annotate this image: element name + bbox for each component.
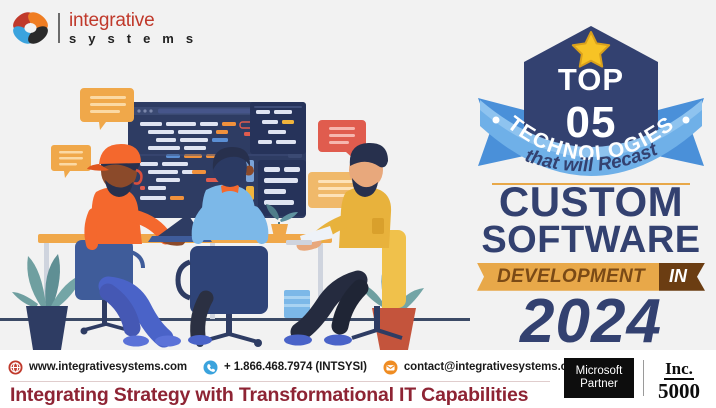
promo-panel: TOP 05 TECHNOLOGIES that will R [466,14,716,344]
desk-storage-icon [284,290,310,318]
headline-line1: CUSTOM [466,182,716,222]
bubble-orange-large [80,88,134,130]
contact-website[interactable]: www.integrativesystems.com [8,360,187,375]
ribbon-in-label: IN [669,266,695,287]
badge-rank-number: 05 [566,98,617,147]
promo-headline: CUSTOM SOFTWARE DEVELOPMENT IN 2024 [466,182,716,352]
four-petal-pinwheel-icon [8,8,54,48]
logo-divider [58,13,60,43]
bubble-orange-small [51,145,91,178]
contact-row: www.integrativesystems.com + 1.866.468.7… [8,356,600,378]
ribbon-in: IN [659,263,705,291]
contact-email[interactable]: contact@integrativesystems.com [383,360,584,375]
website-label: www.integrativesystems.com [29,361,187,373]
brand-name: integrative [69,11,197,30]
side-panel-screen-icon [250,102,306,154]
inc-5000-logo: Inc. 5000 [648,360,710,402]
globe-icon [8,360,23,375]
footer-tagline: Integrating Strategy with Transformation… [10,384,528,407]
contact-phone[interactable]: + 1.866.468.7974 (INTSYSI) [203,360,367,375]
ribbon-development: DEVELOPMENT [477,263,659,291]
brand-logo[interactable]: integrative s y s t e m s [8,8,197,48]
top-05-badge: TOP 05 TECHNOLOGIES that will R [466,14,716,189]
inc-line2: 5000 [648,381,710,402]
development-ribbon: DEVELOPMENT IN [477,263,705,291]
microsoft-line1: Microsoft [576,365,623,378]
envelope-icon [383,360,398,375]
microsoft-line2: Partner [580,378,618,391]
phone-label: + 1.866.468.7974 (INTSYSI) [224,361,367,373]
developers-at-desk-illustration [0,40,470,350]
ribbon-development-label: DEVELOPMENT [491,266,645,288]
footer-bar: www.integrativesystems.com + 1.866.468.7… [0,350,716,408]
brand-subtitle: s y s t e m s [69,32,197,45]
headline-line2: SOFTWARE [466,222,716,258]
headline-year: 2024 [466,293,716,352]
marketing-banner: integrative s y s t e m s [0,0,716,408]
badge-top-label: TOP [558,62,624,97]
microsoft-partner-badge: Microsoft Partner [564,358,634,398]
email-label: contact@integrativesystems.com [404,361,584,373]
phone-icon [203,360,218,375]
footer-divider [10,381,550,382]
inc-line1: Inc. [664,360,694,380]
badge-divider [643,360,644,396]
